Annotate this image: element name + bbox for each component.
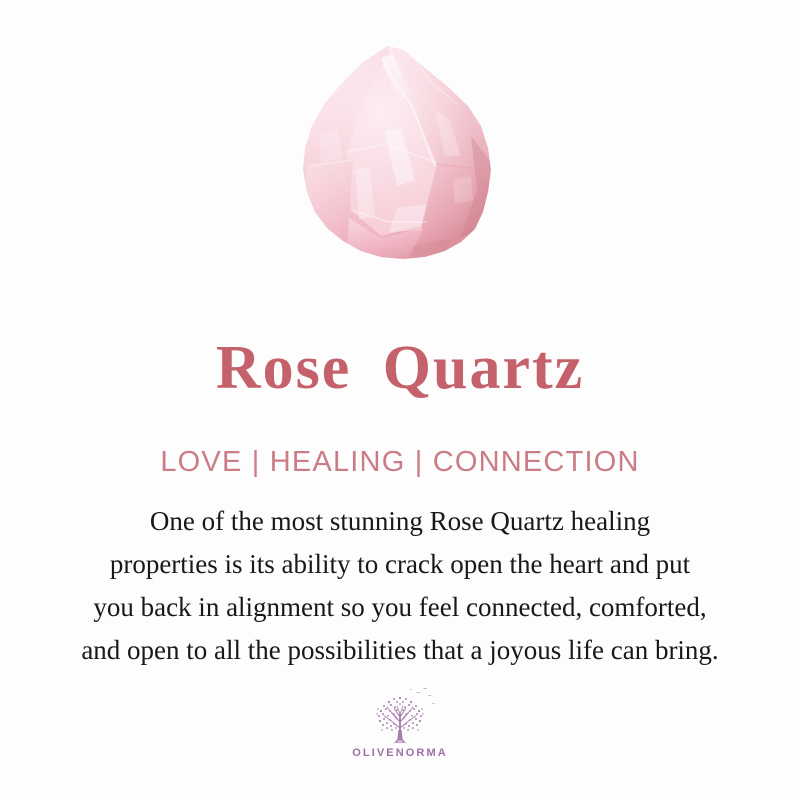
description-line-1: One of the most stunning Rose Quartz hea… — [0, 500, 800, 543]
crystal-image — [0, 40, 800, 290]
description-line-2: properties is its ability to crack open … — [0, 543, 800, 586]
description-line-4: and open to all the possibilities that a… — [0, 629, 800, 672]
product-card: Rose Quartz LOVE | HEALING | CONNECTION … — [0, 0, 800, 800]
rose-quartz-crystal-icon — [285, 40, 515, 280]
brand-logo[interactable]: OLIVENORMA — [0, 684, 800, 759]
description-text: One of the most stunning Rose Quartz hea… — [0, 500, 800, 672]
tree-of-life-icon — [361, 684, 439, 746]
brand-wordmark: OLIVENORMA — [352, 747, 448, 759]
description-line-3: you back in alignment so you feel connec… — [0, 586, 800, 629]
page-title: Rose Quartz — [0, 333, 800, 403]
keyword-subtitle: LOVE | HEALING | CONNECTION — [0, 445, 800, 479]
